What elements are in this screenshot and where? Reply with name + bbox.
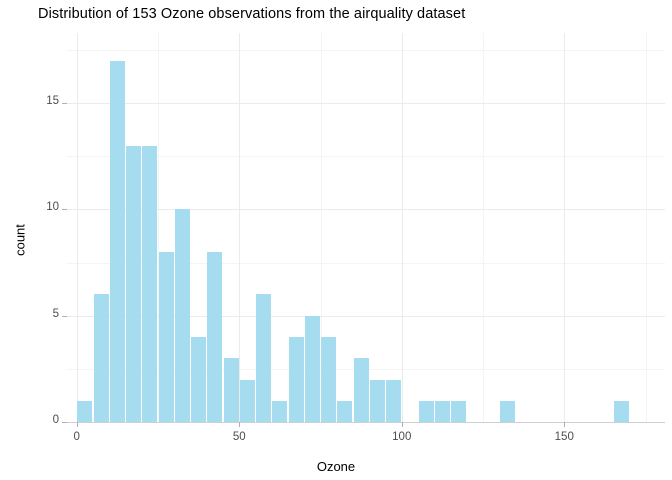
histogram-bar [126, 146, 141, 422]
y-tick-label: 10 [11, 201, 59, 213]
histogram-bar [451, 401, 466, 422]
x-tick-label: 100 [372, 431, 432, 443]
y-axis-title: count [12, 224, 27, 256]
histogram-bar [614, 401, 629, 422]
x-tick-label: 0 [47, 431, 107, 443]
x-tick-mark [564, 422, 565, 427]
histogram-bar [191, 337, 206, 422]
x-tick-mark [77, 422, 78, 427]
x-tick-label: 150 [534, 431, 594, 443]
histogram-bar [94, 294, 109, 422]
x-tick-mark [402, 422, 403, 427]
histogram-bar [321, 337, 336, 422]
histogram-bar [77, 401, 92, 422]
histogram-bar [386, 380, 401, 423]
y-tick-mark [62, 103, 67, 104]
histogram-bar [354, 358, 369, 422]
y-tick-label: 0 [11, 414, 59, 426]
x-tick-mark [239, 422, 240, 427]
histogram-bar [256, 294, 271, 422]
histogram-bar [175, 209, 190, 422]
plot-panel [67, 33, 665, 422]
histogram-bar [435, 401, 450, 422]
histogram-bar [289, 337, 304, 422]
x-axis-title: Ozone [0, 459, 672, 474]
y-tick-mark [62, 316, 67, 317]
histogram-bar [419, 401, 434, 422]
y-tick-label: 15 [11, 95, 59, 107]
chart-container: Distribution of 153 Ozone observations f… [0, 0, 672, 480]
histogram-bar [142, 146, 157, 422]
histogram-bar [272, 401, 287, 422]
x-tick-label: 50 [209, 431, 269, 443]
histogram-bar [224, 358, 239, 422]
histogram-bar [110, 61, 125, 422]
histogram-bar [500, 401, 515, 422]
histogram-bar [305, 316, 320, 422]
histogram-bar [159, 252, 174, 422]
histogram-bar [240, 380, 255, 423]
y-tick-mark [62, 209, 67, 210]
histogram-bars [67, 33, 665, 422]
histogram-bar [370, 380, 385, 423]
histogram-bar [207, 252, 222, 422]
page-title: Distribution of 153 Ozone observations f… [38, 6, 465, 22]
y-tick-label: 5 [11, 308, 59, 320]
x-axis-line [67, 422, 665, 423]
histogram-bar [337, 401, 352, 422]
y-tick-mark [62, 422, 67, 423]
